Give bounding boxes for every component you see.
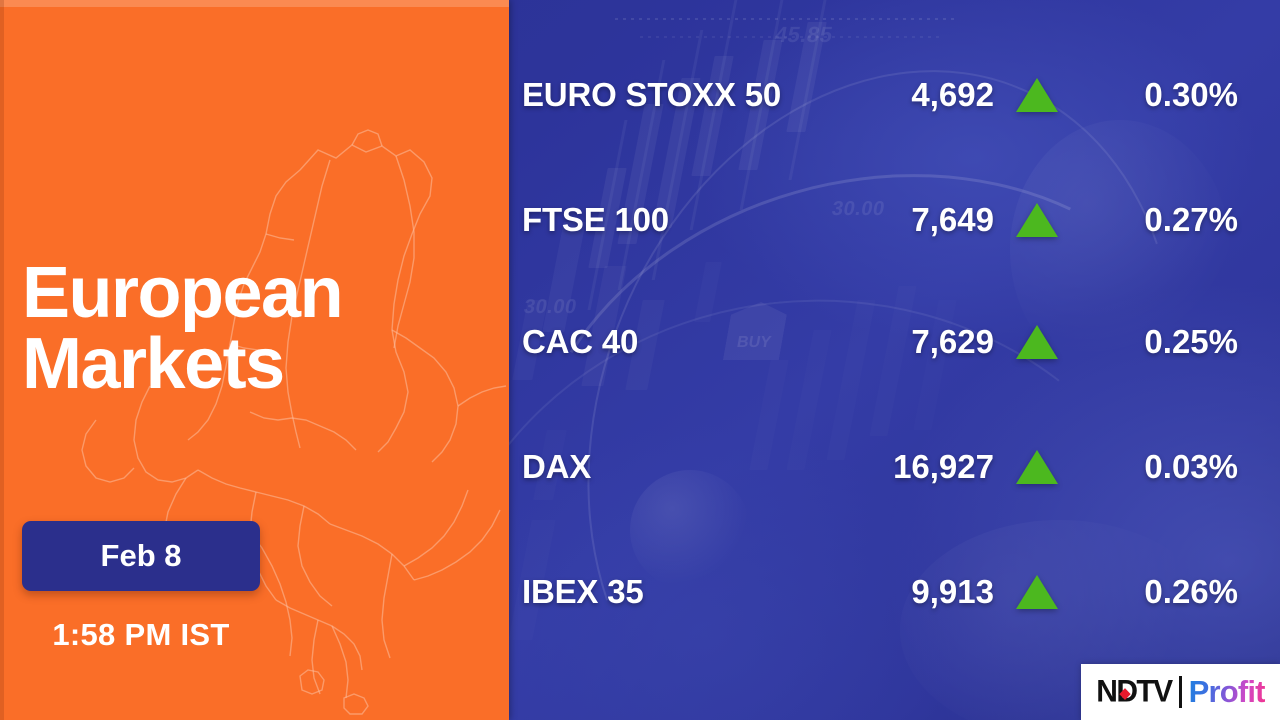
index-change: 0.03% (1080, 448, 1260, 486)
index-name: CAC 40 (522, 323, 882, 361)
table-row[interactable]: FTSE 100 7,649 0.27% (522, 193, 1260, 247)
table-row[interactable]: EURO STOXX 50 4,692 0.30% (522, 68, 1260, 122)
triangle-up-icon (1016, 575, 1058, 609)
table-row[interactable]: IBEX 35 9,913 0.26% (522, 565, 1260, 619)
market-summary-card: 45.85 30.00 30.00 BUY (0, 0, 1280, 720)
index-change: 0.30% (1080, 76, 1260, 114)
index-name: IBEX 35 (522, 573, 882, 611)
profit-wordmark: Profit (1189, 674, 1265, 710)
logo-separator (1179, 676, 1182, 708)
title-line-1: European (22, 258, 492, 329)
index-change: 0.27% (1080, 201, 1260, 239)
triangle-up-icon (1016, 450, 1058, 484)
direction-cell (994, 325, 1080, 359)
index-change: 0.25% (1080, 323, 1260, 361)
table-row[interactable]: DAX 16,927 0.03% (522, 440, 1260, 494)
date-badge-label: Feb 8 (101, 538, 182, 574)
index-change: 0.26% (1080, 573, 1260, 611)
index-name: FTSE 100 (522, 201, 882, 239)
top-accent-strip (0, 0, 509, 7)
left-panel: European Markets Feb 8 1:58 PM IST (0, 0, 509, 720)
index-value: 9,913 (882, 573, 994, 611)
table-row[interactable]: CAC 40 7,629 0.25% (522, 315, 1260, 369)
direction-cell (994, 78, 1080, 112)
timestamp-label: 1:58 PM IST (22, 617, 260, 653)
ndtv-text: NDTV (1096, 674, 1171, 709)
page-title: European Markets (22, 258, 492, 399)
market-index-list: EURO STOXX 50 4,692 0.30% FTSE 100 7,649… (522, 0, 1260, 720)
direction-cell (994, 203, 1080, 237)
direction-cell (994, 450, 1080, 484)
ndtv-wordmark: NDTV (1096, 674, 1171, 710)
index-name: DAX (522, 448, 882, 486)
index-value: 16,927 (882, 448, 994, 486)
triangle-up-icon (1016, 325, 1058, 359)
left-edge-shadow (0, 0, 4, 720)
triangle-up-icon (1016, 203, 1058, 237)
index-value: 7,629 (882, 323, 994, 361)
date-badge[interactable]: Feb 8 (22, 521, 260, 591)
index-value: 4,692 (882, 76, 994, 114)
triangle-up-icon (1016, 78, 1058, 112)
title-line-2: Markets (22, 329, 492, 400)
index-name: EURO STOXX 50 (522, 76, 882, 114)
index-value: 7,649 (882, 201, 994, 239)
direction-cell (994, 575, 1080, 609)
ndtv-profit-logo[interactable]: NDTV Profit (1081, 664, 1280, 720)
